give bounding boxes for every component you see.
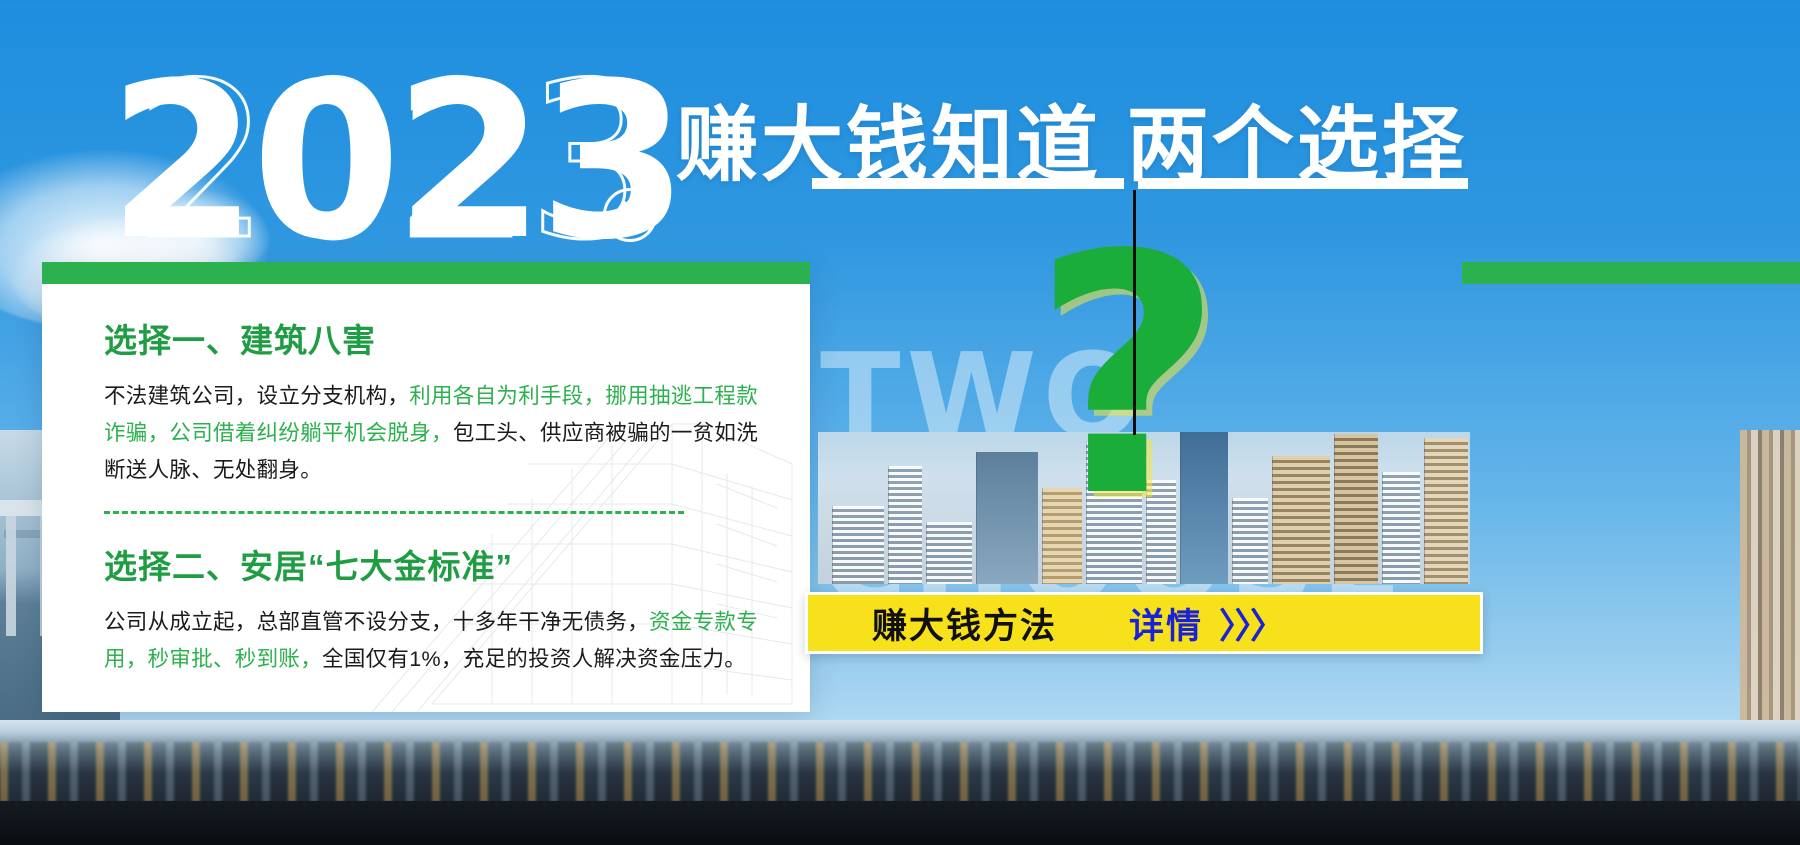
bottom-dark-edge: [0, 801, 1800, 845]
section-1-part-1: 不法建筑公司，设立分支机构，: [104, 384, 409, 408]
section-2-title: 选择二、安居“七大金标准”: [104, 540, 794, 588]
bottom-photo-band: [0, 720, 1800, 845]
banner-stage: 2023 2023 年 赚大钱知道 两个选择 TWO CHOOSE ?: [0, 0, 1800, 845]
chevron-right-icon: 〉〉〉: [1219, 598, 1283, 649]
right-buildings-strip: [1740, 430, 1800, 720]
section-2-part-3: 全国仅有1%，充足的投资人解决资金压力。: [322, 647, 746, 671]
vertical-divider-line: [1133, 190, 1136, 435]
section-2-body: 公司从成立起，总部直管不设分支，十多年干净无债务，资金专款专用，秒审批、秒到账，…: [104, 604, 776, 678]
question-mark-icon: ?: [1032, 212, 1223, 542]
section-divider: [104, 511, 684, 514]
section-1-title: 选择一、建筑八害: [104, 314, 794, 362]
year-suffix-badge: 年: [603, 188, 657, 242]
water-reflection: [0, 742, 1800, 802]
cta-detail-link[interactable]: 详情: [1129, 598, 1203, 649]
section-1-body: 不法建筑公司，设立分支机构，利用各自为利手段，挪用抽逃工程款诈骗，公司借着纠纷躺…: [104, 378, 776, 489]
card-green-topbar: [42, 262, 810, 284]
card-content: 选择一、建筑八害 不法建筑公司，设立分支机构，利用各自为利手段，挪用抽逃工程款诈…: [104, 314, 794, 678]
cta-main-label: 赚大钱方法: [872, 598, 1057, 649]
right-green-bar: [1462, 262, 1800, 284]
content-card: 选择一、建筑八害 不法建筑公司，设立分支机构，利用各自为利手段，挪用抽逃工程款诈…: [42, 262, 810, 712]
cta-button[interactable]: 赚大钱方法 详情 〉〉〉: [805, 592, 1483, 654]
section-2-part-1: 公司从成立起，总部直管不设分支，十多年干净无债务，: [104, 610, 649, 634]
